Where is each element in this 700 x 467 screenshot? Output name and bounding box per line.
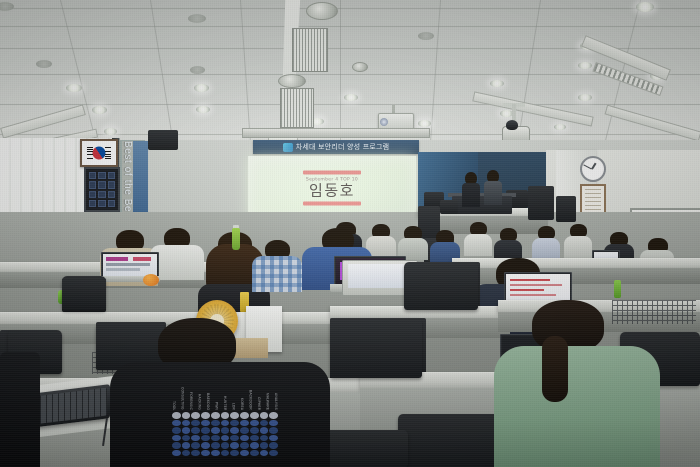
monitor-screen [348, 264, 410, 288]
student-body [564, 236, 592, 258]
recessed-downlight [554, 124, 566, 130]
clock-hour-hand [591, 163, 596, 170]
office-chair [62, 276, 106, 310]
flag-canvas [84, 143, 114, 163]
recessed-downlight [418, 32, 434, 40]
foreground-student-right [486, 300, 666, 467]
kitri-logo-icon [283, 143, 293, 152]
orange [143, 274, 159, 286]
laptop-screen [504, 272, 572, 302]
poster-grid [89, 172, 115, 207]
tshirt-word: BACKDOOR [249, 390, 253, 410]
office-chair [404, 262, 478, 310]
student-body [532, 238, 560, 260]
south-korea-flag [80, 139, 118, 167]
clock-minute-hand [583, 164, 591, 169]
tshirt-word: BAEKDOO [206, 393, 210, 410]
equipment-rack [556, 196, 576, 222]
recessed-downlight [490, 80, 504, 87]
water-bottle [232, 228, 240, 250]
recessed-downlight [636, 2, 654, 12]
presenter-body [484, 181, 502, 205]
podium [452, 196, 512, 214]
student-plaid-shirt [252, 240, 302, 292]
wall-speaker [148, 130, 178, 150]
fluorescent-grille [280, 88, 314, 128]
tshirt-word: HUNTER [223, 396, 227, 410]
camera-lens-icon [506, 120, 518, 130]
monitor [440, 200, 458, 214]
tshirt-word: KOREA [240, 398, 244, 410]
recessed-downlight [418, 120, 431, 127]
slide-accent-bar-top [303, 171, 361, 175]
student-ponytail [542, 336, 568, 402]
recessed-downlight [194, 84, 209, 92]
equipment-rack [528, 186, 554, 220]
tshirt-word: LDR [232, 403, 236, 410]
tshirt-word: CONSULTING [181, 387, 185, 410]
tshirt-word: PWN [215, 402, 219, 410]
tshirt-word: FORENSIC [189, 392, 193, 410]
screen-housing [242, 128, 430, 138]
recessed-downlight [66, 84, 82, 92]
recessed-downlight [92, 106, 107, 114]
tshirt-word: TOOL [172, 401, 176, 410]
tshirt-word-list: TOOL CONSULTING FORENSIC HACKING BAEKDOO… [172, 380, 278, 410]
recessed-downlight [36, 60, 52, 68]
laptop-display [103, 254, 157, 276]
tshirt-word: CIPHER [257, 397, 261, 410]
dark-framed-poster [84, 167, 120, 212]
recessed-downlight [104, 128, 117, 135]
recessed-downlight [188, 14, 206, 23]
slide-content: September 4 TOP 10 임동호 [289, 171, 375, 206]
student-body [494, 346, 660, 467]
recessable-downlight [190, 66, 205, 74]
student-body [252, 256, 302, 292]
ceiling-diffuser [306, 2, 338, 20]
recessed-downlight [196, 106, 210, 113]
recessed-downlight [344, 94, 358, 101]
program-banner: 차세대 보안리더 양성 프로그램 [253, 140, 419, 154]
classroom-photo: Best of the Best 차세대 보안리더 양성 프로그램 Septem… [0, 0, 700, 467]
slide-accent-bar-bottom [303, 202, 361, 206]
tshirt-graphic: TOOL CONSULTING FORENSIC HACKING BAEKDOO… [172, 380, 278, 456]
wall-clock [580, 156, 606, 182]
tshirt-word: ANALYSIS [274, 393, 278, 410]
projection-screen: September 4 TOP 10 임동호 [248, 156, 416, 220]
laptop-display [506, 274, 570, 300]
program-banner-text: 차세대 보안리더 양성 프로그램 [296, 142, 390, 152]
water-bottle [614, 280, 621, 298]
foreground-student-left: TOOL CONSULTING FORENSIC HACKING BAEKDOO… [110, 318, 330, 467]
ceiling-speaker [352, 62, 368, 72]
tshirt-dot-matrix [172, 412, 278, 456]
recessed-downlight [578, 94, 592, 101]
student-body [464, 234, 492, 256]
slide-title: 임동호 [289, 184, 375, 199]
tshirt-word: MALWARE [266, 393, 270, 410]
presenter-body [462, 183, 480, 207]
office-chair [330, 318, 422, 378]
fluorescent-grille [292, 28, 328, 72]
foreground-chair-edge [0, 352, 40, 467]
ceiling-diffuser [278, 74, 306, 88]
tshirt-word: HACKING [198, 394, 202, 410]
recessed-downlight [578, 62, 592, 69]
projector-lens-icon [380, 118, 388, 126]
